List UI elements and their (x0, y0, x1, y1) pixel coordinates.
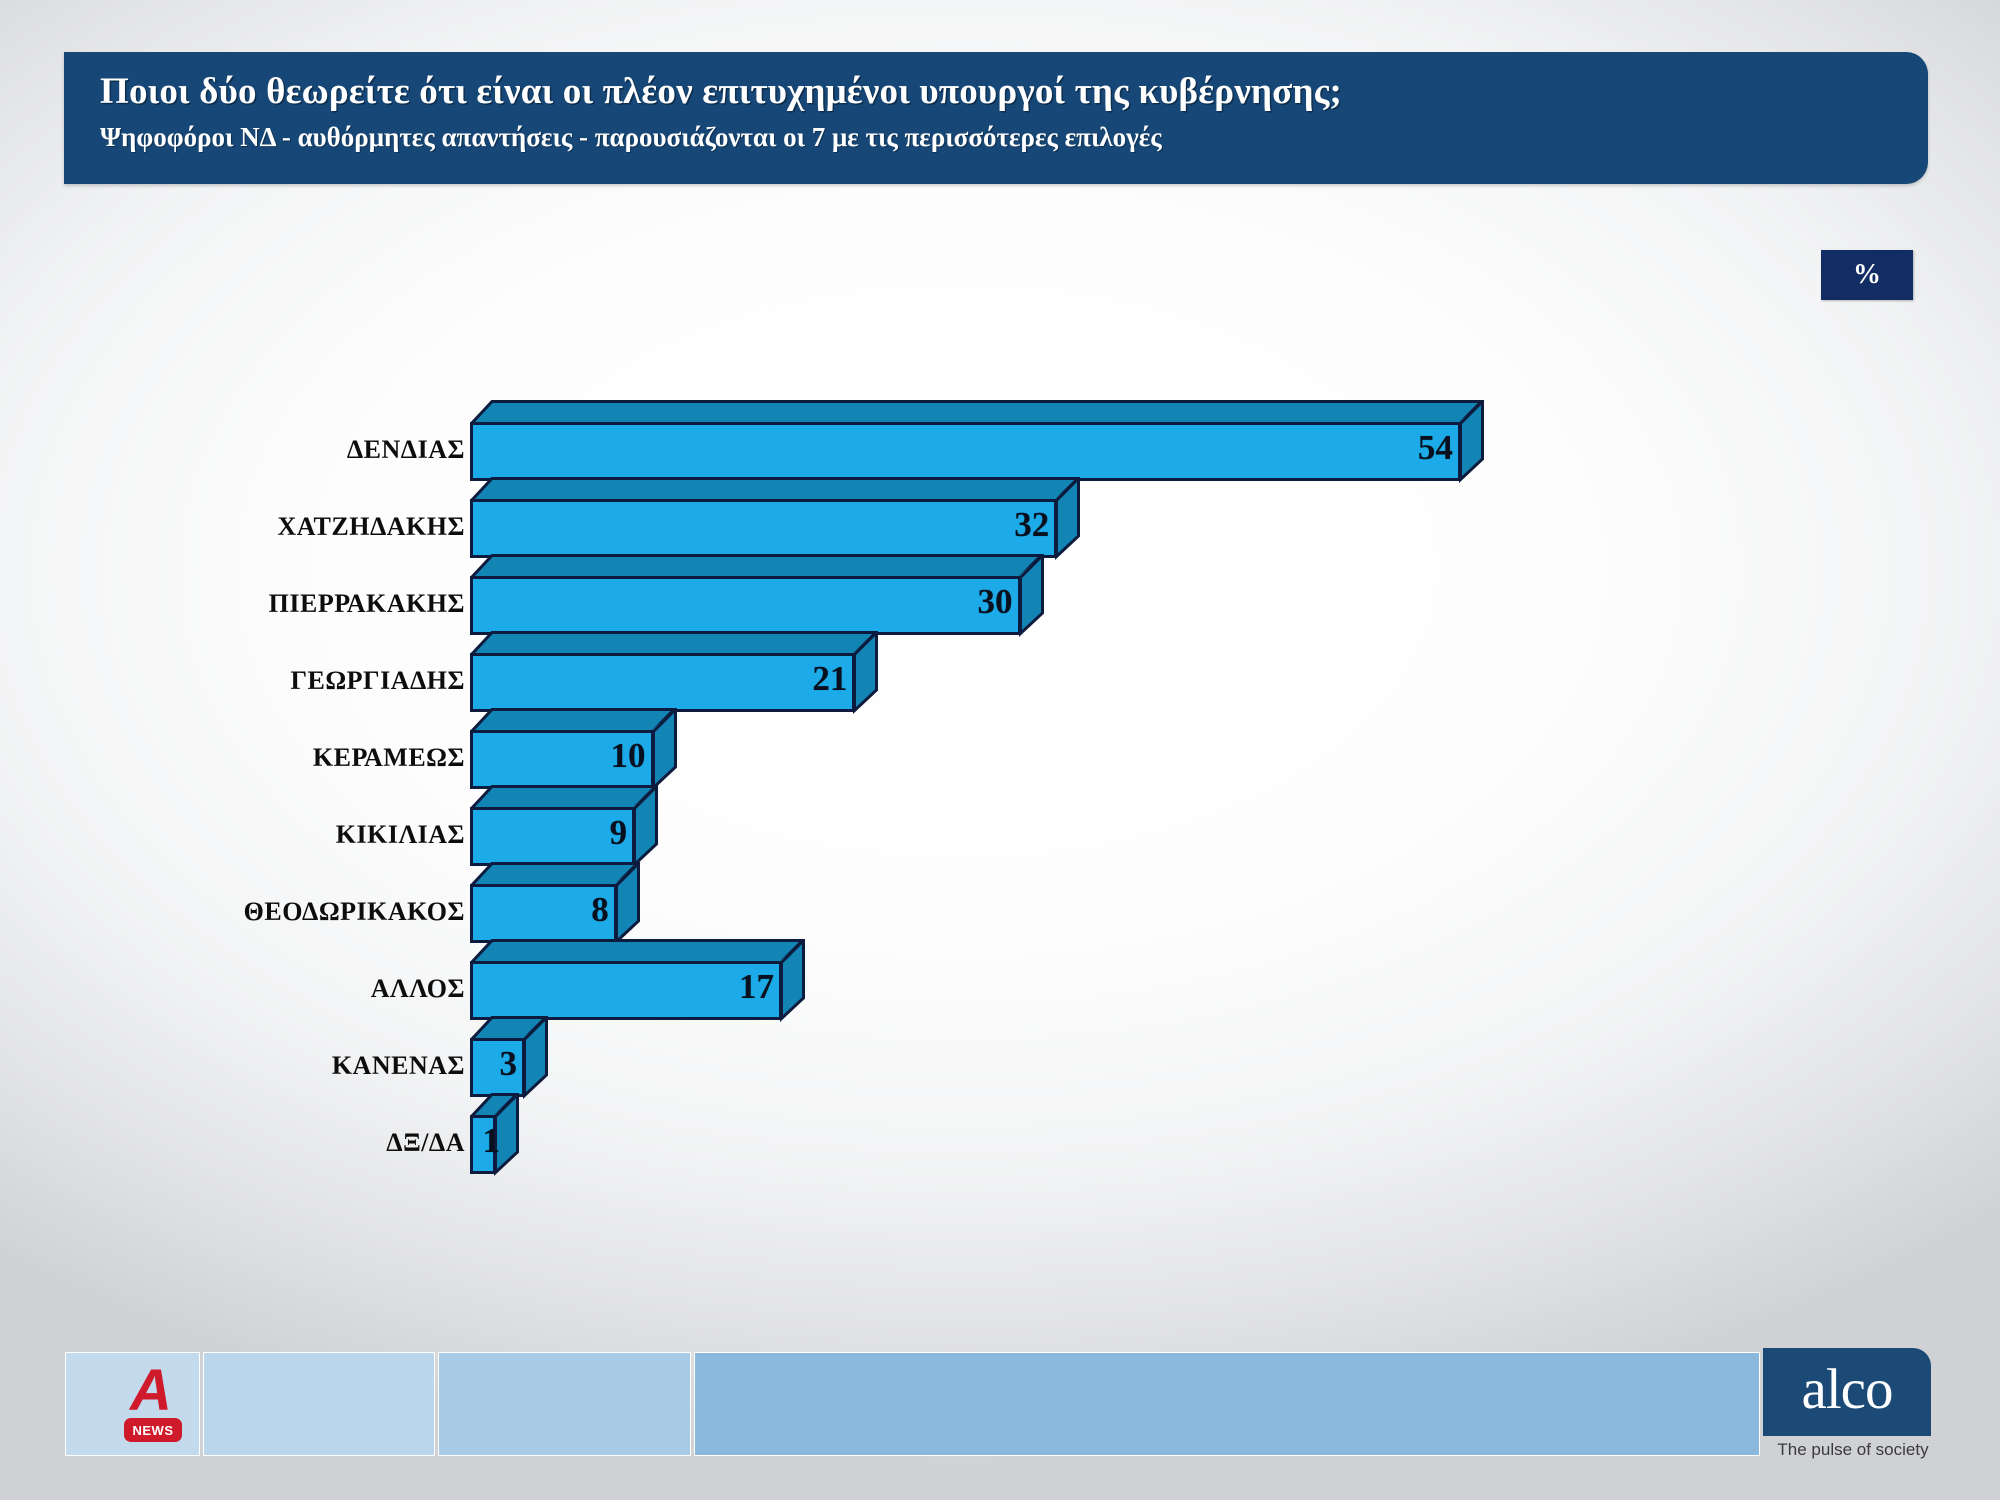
bar-row: ΘΕΟΔΩΡΙΚΑΚΟΣ8 (0, 862, 2000, 943)
bar-category-label: ΠΙΕΡΡΑΚΑΚΗΣ (269, 589, 465, 619)
bar-side-outline (853, 631, 880, 714)
bar-3d: 30 (470, 554, 1043, 635)
bar-category-label: ΓΕΩΡΓΙΑΔΗΣ (290, 666, 465, 696)
page-subtitle: Ψηφοφόροι ΝΔ - αυθόρμητες απαντήσεις - π… (100, 122, 1890, 153)
bar-value-label: 21 (791, 659, 847, 699)
bar-3d: 54 (470, 400, 1483, 481)
footer-block (694, 1352, 1760, 1456)
anews-logo: A NEWS (122, 1362, 188, 1448)
bar-value-label: 54 (1397, 428, 1453, 468)
footer-bar (0, 1352, 2000, 1462)
bar-category-label: ΚΑΝΕΝΑΣ (332, 1051, 465, 1081)
bar-value-label: 8 (575, 890, 609, 930)
bar-side-outline (652, 708, 679, 791)
bar-row: ΚΙΚΙΛΙΑΣ9 (0, 785, 2000, 866)
alco-logo-text: alco (1802, 1361, 1893, 1424)
bar-3d: 9 (470, 785, 657, 866)
bar-3d: 3 (470, 1016, 547, 1097)
bar-row: ΔΕΝΔΙΑΣ54 (0, 400, 2000, 481)
bar-value-label: 3 (483, 1044, 517, 1084)
bar-side-outline (1019, 554, 1046, 637)
bar-3d: 8 (470, 862, 639, 943)
bar-category-label: ΧΑΤΖΗΔΑΚΗΣ (278, 512, 465, 542)
anews-letter-icon: A (130, 1362, 172, 1420)
bar-side-outline (780, 939, 807, 1022)
bar-value-label: 30 (957, 582, 1013, 622)
bar-category-label: ΚΙΚΙΛΙΑΣ (336, 820, 465, 850)
bar-row: ΑΛΛΟΣ17 (0, 939, 2000, 1020)
bar-category-label: ΚΕΡΑΜΕΩΣ (313, 743, 465, 773)
bar-front-face (470, 499, 1057, 558)
footer-block (438, 1352, 691, 1456)
bar-3d: 1 (470, 1093, 518, 1174)
bar-3d: 21 (470, 631, 877, 712)
bar-row: ΓΕΩΡΓΙΑΔΗΣ21 (0, 631, 2000, 712)
bar-row: ΚΕΡΑΜΕΩΣ10 (0, 708, 2000, 789)
bar-row: ΠΙΕΡΡΑΚΑΚΗΣ30 (0, 554, 2000, 635)
bar-row: ΧΑΤΖΗΔΑΚΗΣ32 (0, 477, 2000, 558)
footer-block (203, 1352, 435, 1456)
bar-category-label: ΔΞ/ΔΑ (386, 1128, 465, 1158)
alco-tagline: The pulse of society (1763, 1440, 1943, 1460)
bar-side-outline (633, 785, 660, 868)
bar-value-label: 17 (718, 967, 774, 1007)
bar-side-outline (1459, 400, 1486, 483)
bar-category-label: ΔΕΝΔΙΑΣ (347, 435, 465, 465)
bar-chart: ΔΕΝΔΙΑΣ54ΧΑΤΖΗΔΑΚΗΣ32ΠΙΕΡΡΑΚΑΚΗΣ30ΓΕΩΡΓΙ… (0, 390, 2000, 1240)
bar-value-label: 9 (593, 813, 627, 853)
percent-unit-badge: % (1821, 250, 1913, 300)
bar-3d: 17 (470, 939, 804, 1020)
alco-logo: alco (1763, 1348, 1931, 1436)
bar-front-face (470, 576, 1021, 635)
bar-category-label: ΘΕΟΔΩΡΙΚΑΚΟΣ (244, 897, 465, 927)
bar-side-outline (1055, 477, 1082, 560)
bar-category-label: ΑΛΛΟΣ (371, 974, 465, 1004)
bar-front-face (470, 422, 1461, 481)
slide-canvas: Ποιοι δύο θεωρείτε ότι είναι οι πλέον επ… (0, 0, 2000, 1500)
bar-row: ΚΑΝΕΝΑΣ3 (0, 1016, 2000, 1097)
bar-side-outline (523, 1016, 550, 1099)
bar-row: ΔΞ/ΔΑ1 (0, 1093, 2000, 1174)
bar-3d: 32 (470, 477, 1079, 558)
anews-badge-label: NEWS (124, 1418, 182, 1442)
bar-3d: 10 (470, 708, 676, 789)
header-banner: Ποιοι δύο θεωρείτε ότι είναι οι πλέον επ… (64, 52, 1928, 184)
bar-value-label: 32 (993, 505, 1049, 545)
bar-side-outline (615, 862, 642, 945)
page-title: Ποιοι δύο θεωρείτε ότι είναι οι πλέον επ… (100, 70, 1890, 113)
bar-value-label: 10 (590, 736, 646, 776)
bar-value-label: 1 (466, 1121, 500, 1161)
